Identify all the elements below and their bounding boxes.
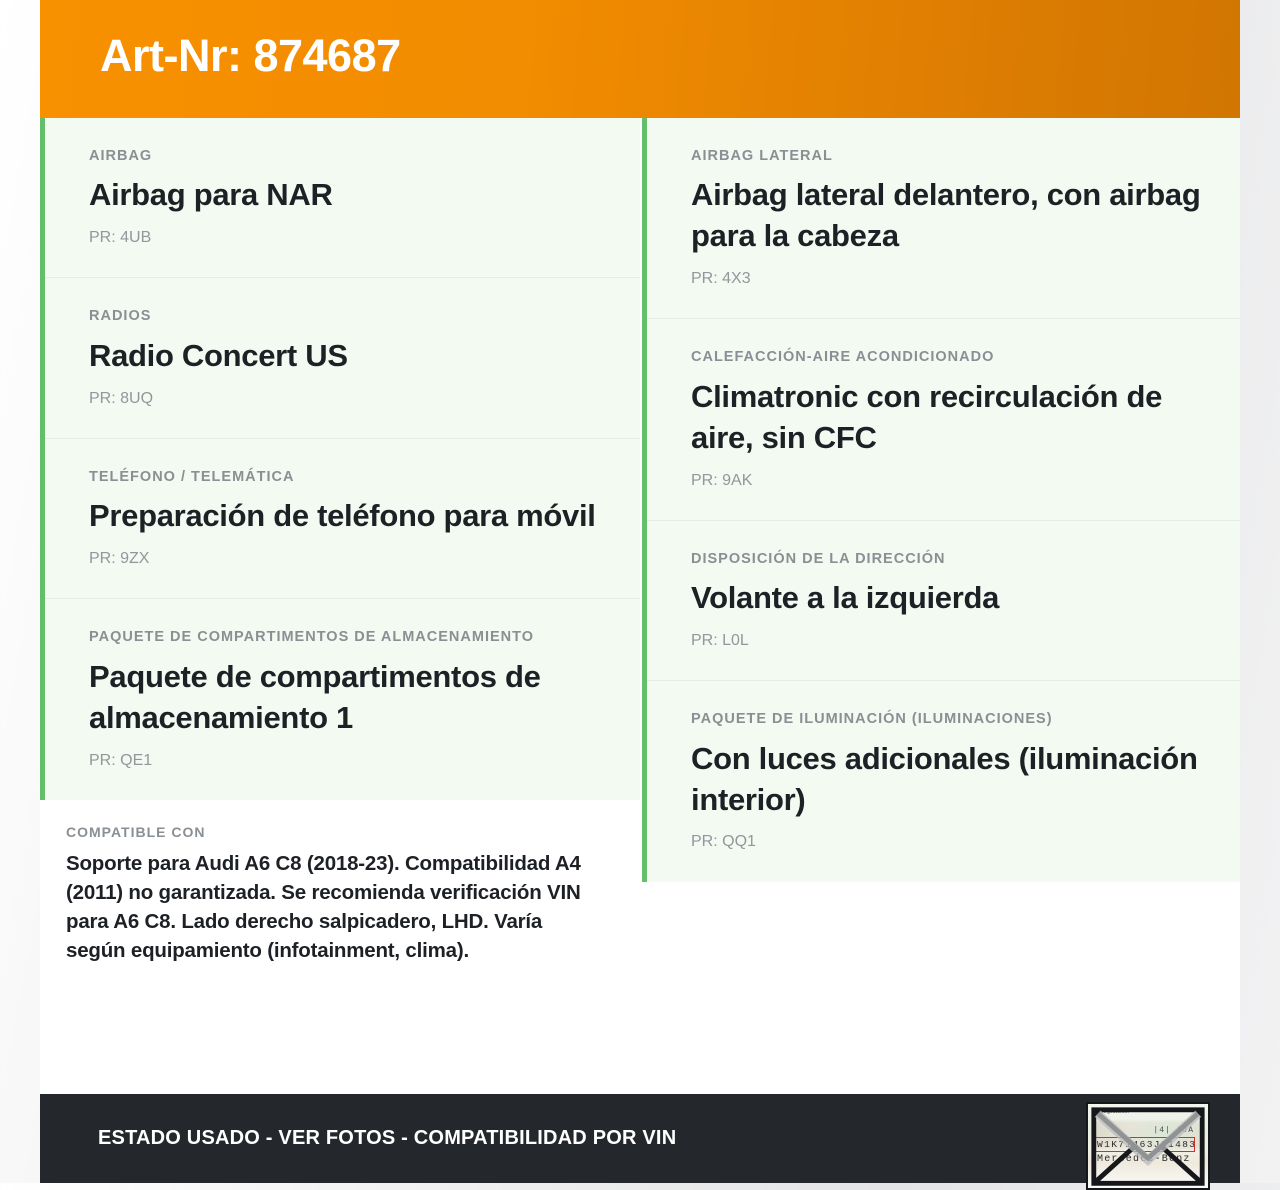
spec-card[interactable]: PAQUETE DE ILUMINACIÓN (ILUMINACIONES) C… [647, 681, 1240, 881]
page-title: Art-Nr: 874687 [100, 33, 401, 78]
spec-card[interactable]: AIRBAG Airbag para NAR PR: 4UB [45, 118, 640, 278]
spec-card[interactable]: CALEFACCIÓN-AIRE ACONDICIONADO Climatron… [647, 319, 1240, 520]
compatibility-text: Soporte para Audi A6 C8 (2018-23). Compa… [66, 849, 600, 965]
spec-category: PAQUETE DE COMPARTIMENTOS DE ALMACENAMIE… [89, 629, 602, 646]
spec-columns: AIRBAG Airbag para NAR PR: 4UB RADIOS Ra… [40, 118, 1240, 1094]
broken-image-envelope-icon [1088, 1104, 1208, 1189]
spec-category: CALEFACCIÓN-AIRE ACONDICIONADO [691, 349, 1202, 366]
spec-value: Volante a la izquierda [691, 578, 1202, 619]
spec-card[interactable]: DISPOSICIÓN DE LA DIRECCIÓN Volante a la… [647, 521, 1240, 681]
spec-value: Paquete de compartimentos de almacenamie… [89, 657, 602, 739]
spec-category: PAQUETE DE ILUMINACIÓN (ILUMINACIONES) [691, 711, 1202, 728]
compatibility-section: COMPATIBLE CON Soporte para Audi A6 C8 (… [40, 800, 640, 995]
spec-value: Climatronic con recirculación de aire, s… [691, 377, 1202, 459]
spec-value: Con luces adicionales (iluminación inter… [691, 739, 1202, 821]
spec-card[interactable]: RADIOS Radio Concert US PR: 8UQ [45, 278, 640, 438]
spec-pr-code: PR: L0L [691, 631, 1202, 650]
spec-value: Radio Concert US [89, 336, 602, 377]
spec-pr-code: PR: 4UB [89, 228, 602, 247]
spec-pr-code: PR: QQ1 [691, 832, 1202, 851]
header-bar: Art-Nr: 874687 [40, 0, 1240, 118]
compatibility-label: COMPATIBLE CON [66, 824, 600, 840]
product-detail-page: Art-Nr: 874687 AIRBAG Airbag para NAR PR… [40, 0, 1240, 1183]
spec-pr-code: PR: 9ZX [89, 549, 602, 568]
right-column: AIRBAG LATERAL Airbag lateral delantero,… [642, 118, 1240, 882]
spec-card[interactable]: PAQUETE DE COMPARTIMENTOS DE ALMACENAMIE… [45, 599, 640, 799]
vin-document-thumbnail[interactable]: Fahrgestellnr. |4| AJA W1K71463J31483 Me… [1086, 1102, 1210, 1190]
right-card-list: AIRBAG LATERAL Airbag lateral delantero,… [642, 118, 1240, 882]
spec-value: Preparación de teléfono para móvil [89, 496, 602, 537]
spec-pr-code: PR: 9AK [691, 471, 1202, 490]
spec-category: RADIOS [89, 308, 602, 325]
spec-category: DISPOSICIÓN DE LA DIRECCIÓN [691, 551, 1202, 568]
spec-pr-code: PR: 4X3 [691, 269, 1202, 288]
spec-category: AIRBAG [89, 148, 602, 165]
spec-pr-code: PR: QE1 [89, 751, 602, 770]
left-column: AIRBAG Airbag para NAR PR: 4UB RADIOS Ra… [40, 118, 640, 995]
footer-bar: ESTADO USADO - VER FOTOS - COMPATIBILIDA… [40, 1094, 1240, 1183]
left-card-list: AIRBAG Airbag para NAR PR: 4UB RADIOS Ra… [40, 118, 640, 800]
spec-value: Airbag para NAR [89, 175, 602, 216]
spec-value: Airbag lateral delantero, con airbag par… [691, 175, 1202, 257]
spec-category: AIRBAG LATERAL [691, 148, 1202, 165]
footer-notice: ESTADO USADO - VER FOTOS - COMPATIBILIDA… [98, 1127, 676, 1150]
spec-pr-code: PR: 8UQ [89, 389, 602, 408]
spec-card[interactable]: TELÉFONO / TELEMÁTICA Preparación de tel… [45, 439, 640, 599]
spec-category: TELÉFONO / TELEMÁTICA [89, 469, 602, 486]
spec-card[interactable]: AIRBAG LATERAL Airbag lateral delantero,… [647, 118, 1240, 319]
